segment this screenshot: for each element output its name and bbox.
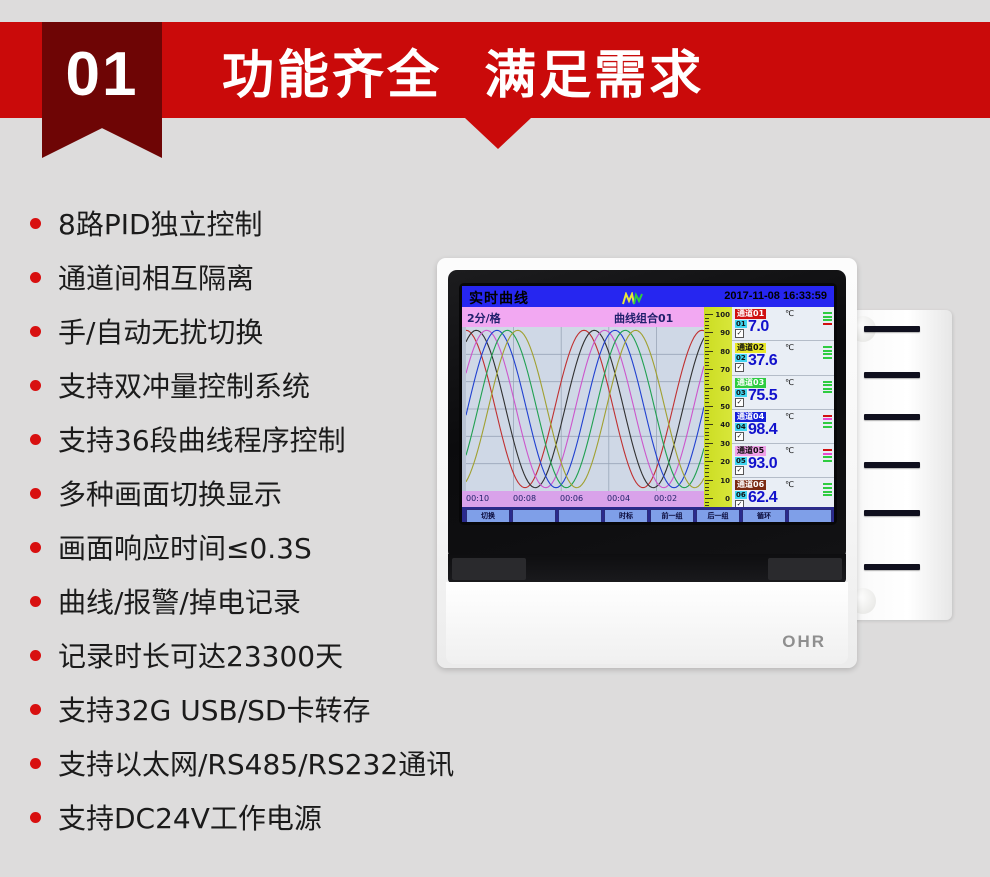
- screen-datetime: 2017-11-08 16:33:59: [724, 290, 827, 302]
- channel-number: 01: [735, 320, 747, 328]
- bargraph-segment: [823, 422, 832, 424]
- bullet-dot-icon: [30, 380, 41, 391]
- channel-row[interactable]: 通道03℃03✓75.5: [732, 376, 834, 410]
- bargraph-segment: [823, 494, 832, 496]
- y-tick-mark: [705, 321, 709, 322]
- channel-checkbox[interactable]: ✓: [735, 398, 744, 407]
- y-tick-mark: [705, 395, 709, 396]
- device-lower-black-strip: [448, 554, 846, 583]
- y-tick-mark: [705, 398, 709, 399]
- bargraph-segment: [823, 460, 832, 462]
- device-side-body: [842, 310, 952, 620]
- y-tick-mark: [705, 380, 709, 381]
- bullet-dot-icon: [30, 650, 41, 661]
- bullet-dot-icon: [30, 272, 41, 283]
- y-tick-mark: [705, 417, 709, 418]
- y-tick-mark: [705, 498, 713, 499]
- channel-bargraph: [823, 381, 832, 395]
- bullet-dot-icon: [30, 218, 41, 229]
- y-tick-mark: [705, 472, 709, 473]
- channel-panel[interactable]: 通道01℃01✓7.0通道02℃02✓37.6通道03℃03✓75.5通道04℃…: [732, 307, 834, 507]
- feature-text: 支持DC24V工作电源: [58, 797, 322, 837]
- y-tick-mark: [705, 446, 709, 447]
- feature-item: 支持DC24V工作电源: [30, 790, 450, 844]
- y-tick-mark: [705, 351, 713, 352]
- channel-number: 06: [735, 491, 747, 499]
- y-tick-label: 20: [720, 458, 730, 466]
- y-tick-mark: [705, 428, 709, 429]
- bargraph-segment: [823, 487, 832, 489]
- y-tick-label: 50: [720, 403, 730, 411]
- bargraph-segment: [823, 453, 832, 455]
- bargraph-segment: [823, 350, 832, 352]
- channel-bargraph: [823, 346, 832, 360]
- soft-button-4[interactable]: 时标: [604, 509, 648, 523]
- feature-text: 多种画面切换显示: [58, 473, 282, 513]
- channel-checkbox[interactable]: ✓: [735, 466, 744, 475]
- channel-bargraph: [823, 415, 832, 429]
- y-tick-mark: [705, 325, 709, 326]
- channel-bargraph: [823, 483, 832, 497]
- bullet-dot-icon: [30, 812, 41, 823]
- y-tick-mark: [705, 413, 709, 414]
- channel-unit: ℃: [785, 412, 794, 421]
- soft-button-5[interactable]: 前一组: [650, 509, 694, 523]
- trend-chart[interactable]: [466, 327, 704, 491]
- y-tick-mark: [705, 465, 709, 466]
- bargraph-segment: [823, 391, 832, 393]
- y-tick-mark: [705, 424, 713, 425]
- y-tick-mark: [705, 410, 709, 411]
- channel-bargraph: [823, 312, 832, 326]
- y-tick-mark: [705, 388, 713, 389]
- y-tick-mark: [705, 494, 709, 495]
- y-tick-mark: [705, 332, 713, 333]
- feature-text: 通道间相互隔离: [58, 257, 254, 297]
- y-axis-scale: 1009080706050403020100: [704, 307, 732, 507]
- y-tick-label: 10: [720, 477, 730, 485]
- scale-label: 2分/格: [467, 310, 501, 326]
- y-tick-mark: [705, 347, 709, 348]
- device-front-panel: 实时曲线 2017-11-08 16:33:59 2分/格 曲线组合01 00:…: [437, 258, 857, 668]
- channel-unit: ℃: [785, 309, 794, 318]
- vent-slot: [864, 462, 920, 468]
- y-tick-mark: [705, 376, 709, 377]
- y-tick-mark: [705, 435, 709, 436]
- bargraph-segment: [823, 418, 832, 420]
- feature-text: 画面响应时间≤0.3S: [58, 527, 312, 567]
- bullet-dot-icon: [30, 488, 41, 499]
- y-tick-mark: [705, 343, 709, 344]
- vent-slot: [864, 564, 920, 570]
- curve-group-label: 曲线组合01: [614, 310, 673, 326]
- channel-number: 02: [735, 354, 747, 362]
- channel-value: 7.0: [748, 318, 769, 336]
- soft-button-1[interactable]: 切换: [466, 509, 510, 523]
- vent-slot: [864, 510, 920, 516]
- bargraph-segment: [823, 388, 832, 390]
- channel-value: 75.5: [748, 387, 777, 405]
- screen-button-bar: 切换时标前一组后一组循环: [462, 507, 834, 522]
- y-tick-mark: [705, 358, 709, 359]
- y-tick-mark: [705, 384, 709, 385]
- bullet-dot-icon: [30, 326, 41, 337]
- channel-row[interactable]: 通道04℃04✓98.4: [732, 410, 834, 444]
- channel-row[interactable]: 通道01℃01✓7.0: [732, 307, 834, 341]
- vent-slot: [864, 414, 920, 420]
- feature-item: 支持以太网/RS485/RS232通讯: [30, 736, 450, 790]
- y-tick-mark: [705, 502, 709, 503]
- y-tick-mark: [705, 483, 709, 484]
- channel-row[interactable]: 通道02℃02✓37.6: [732, 341, 834, 375]
- vent-slot: [864, 326, 920, 332]
- device-photo: 实时曲线 2017-11-08 16:33:59 2分/格 曲线组合01 00:…: [437, 258, 880, 668]
- y-tick-mark: [705, 450, 709, 451]
- bargraph-segment: [823, 456, 832, 458]
- feature-item: 支持32G USB/SD卡转存: [30, 682, 450, 736]
- y-tick-label: 100: [715, 311, 730, 319]
- channel-value: 98.4: [748, 421, 777, 439]
- time-tick-label: 00:02: [654, 494, 677, 503]
- y-tick-label: 60: [720, 385, 730, 393]
- channel-unit: ℃: [785, 480, 794, 489]
- y-tick-mark: [705, 336, 709, 337]
- time-tick-label: 00:06: [560, 494, 583, 503]
- y-tick-mark: [705, 439, 709, 440]
- feature-text: 支持以太网/RS485/RS232通讯: [58, 743, 454, 783]
- bargraph-segment: [823, 483, 832, 485]
- bargraph-segment: [823, 316, 832, 318]
- y-tick-mark: [705, 461, 713, 462]
- soft-button-7[interactable]: 循环: [742, 509, 786, 523]
- y-tick-mark: [705, 391, 709, 392]
- channel-number: 05: [735, 457, 747, 465]
- feature-text: 支持36段曲线程序控制: [58, 419, 346, 459]
- y-tick-label: 30: [720, 440, 730, 448]
- y-tick-mark: [705, 365, 709, 366]
- lower-tab-right: [768, 558, 842, 580]
- lower-tab-left: [452, 558, 526, 580]
- channel-row[interactable]: 通道05℃05✓93.0: [732, 444, 834, 478]
- channel-number: 04: [735, 423, 747, 431]
- y-tick-mark: [705, 402, 709, 403]
- bargraph-segment: [823, 357, 832, 359]
- time-tick-label: 00:08: [513, 494, 536, 503]
- feature-text: 记录时长可达23300天: [58, 635, 343, 675]
- feature-text: 支持双冲量控制系统: [58, 365, 310, 405]
- y-tick-mark: [705, 468, 709, 469]
- y-tick-mark: [705, 314, 713, 315]
- bargraph-segment: [823, 381, 832, 383]
- feature-item: 8路PID独立控制: [30, 196, 450, 250]
- channel-number: 03: [735, 389, 747, 397]
- vent-slot: [864, 372, 920, 378]
- ribbon-number: 01: [42, 22, 162, 126]
- y-tick-mark: [705, 373, 709, 374]
- channel-checkbox[interactable]: ✓: [735, 363, 744, 372]
- y-tick-mark: [705, 454, 709, 455]
- channel-value: 93.0: [748, 455, 777, 473]
- y-tick-mark: [705, 443, 713, 444]
- feature-list: 8路PID独立控制通道间相互隔离手/自动无扰切换支持双冲量控制系统支持36段曲线…: [30, 196, 450, 844]
- channel-value: 62.4: [748, 489, 777, 507]
- y-tick-mark: [705, 354, 709, 355]
- soft-button-8[interactable]: [788, 509, 832, 523]
- y-tick-mark: [705, 362, 709, 363]
- trend-chart-svg: [466, 327, 704, 491]
- y-tick-mark: [705, 432, 709, 433]
- feature-item: 通道间相互隔离: [30, 250, 450, 304]
- y-tick-label: 40: [720, 421, 730, 429]
- time-tick-label: 00:04: [607, 494, 630, 503]
- y-tick-mark: [705, 328, 709, 329]
- y-tick-label: 80: [720, 348, 730, 356]
- feature-item: 支持36段曲线程序控制: [30, 412, 450, 466]
- y-tick-mark: [705, 480, 713, 481]
- y-tick-mark: [705, 420, 709, 421]
- channel-unit: ℃: [785, 446, 794, 455]
- y-tick-label: 90: [720, 329, 730, 337]
- bullet-dot-icon: [30, 434, 41, 445]
- soft-button-2[interactable]: [512, 509, 556, 523]
- banner-title: 功能齐全 满足需求: [222, 22, 704, 118]
- feature-text: 曲线/报警/掉电记录: [58, 581, 301, 621]
- y-tick-mark: [705, 340, 709, 341]
- y-tick-mark: [705, 487, 709, 488]
- brand-logo: OHR: [782, 632, 826, 652]
- feature-item: 画面响应时间≤0.3S: [30, 520, 450, 574]
- bullet-dot-icon: [30, 758, 41, 769]
- channel-unit: ℃: [785, 343, 794, 352]
- bargraph-segment: [823, 384, 832, 386]
- soft-button-6[interactable]: 后一组: [696, 509, 740, 523]
- device-lower-white-panel: OHR: [446, 582, 848, 664]
- feature-item: 多种画面切换显示: [30, 466, 450, 520]
- y-tick-mark: [705, 490, 709, 491]
- banner-notch: [465, 118, 531, 149]
- time-tick-label: 00:10: [466, 494, 489, 503]
- channel-checkbox[interactable]: ✓: [735, 329, 744, 338]
- bargraph-segment: [823, 353, 832, 355]
- time-axis: 00:1000:0800:0600:0400:02: [462, 491, 704, 507]
- bargraph-segment: [823, 346, 832, 348]
- y-tick-mark: [705, 457, 709, 458]
- feature-item: 支持双冲量控制系统: [30, 358, 450, 412]
- y-tick-mark: [705, 369, 713, 370]
- bargraph-segment: [823, 319, 832, 321]
- bargraph-segment: [823, 415, 832, 417]
- bargraph-segment: [823, 426, 832, 428]
- bargraph-segment: [823, 312, 832, 314]
- y-tick-mark: [705, 318, 709, 319]
- channel-bargraph: [823, 449, 832, 463]
- bargraph-segment: [823, 449, 832, 451]
- channel-unit: ℃: [785, 378, 794, 387]
- feature-item: 记录时长可达23300天: [30, 628, 450, 682]
- y-tick-label: 70: [720, 366, 730, 374]
- feature-text: 手/自动无扰切换: [58, 311, 263, 351]
- bullet-dot-icon: [30, 542, 41, 553]
- feature-item: 手/自动无扰切换: [30, 304, 450, 358]
- screen-title: 实时曲线: [469, 288, 529, 308]
- y-tick-mark: [705, 476, 709, 477]
- soft-button-3[interactable]: [558, 509, 602, 523]
- channel-value: 37.6: [748, 352, 777, 370]
- bargraph-segment: [823, 491, 832, 493]
- bullet-dot-icon: [30, 596, 41, 607]
- bargraph-segment: [823, 323, 832, 325]
- y-tick-label: 0: [725, 495, 730, 503]
- device-screen[interactable]: 实时曲线 2017-11-08 16:33:59 2分/格 曲线组合01 00:…: [462, 286, 834, 522]
- y-tick-mark: [705, 406, 713, 407]
- feature-text: 8路PID独立控制: [58, 203, 263, 243]
- bullet-dot-icon: [30, 704, 41, 715]
- feature-text: 支持32G USB/SD卡转存: [58, 689, 370, 729]
- feature-item: 曲线/报警/掉电记录: [30, 574, 450, 628]
- channel-checkbox[interactable]: ✓: [735, 432, 744, 441]
